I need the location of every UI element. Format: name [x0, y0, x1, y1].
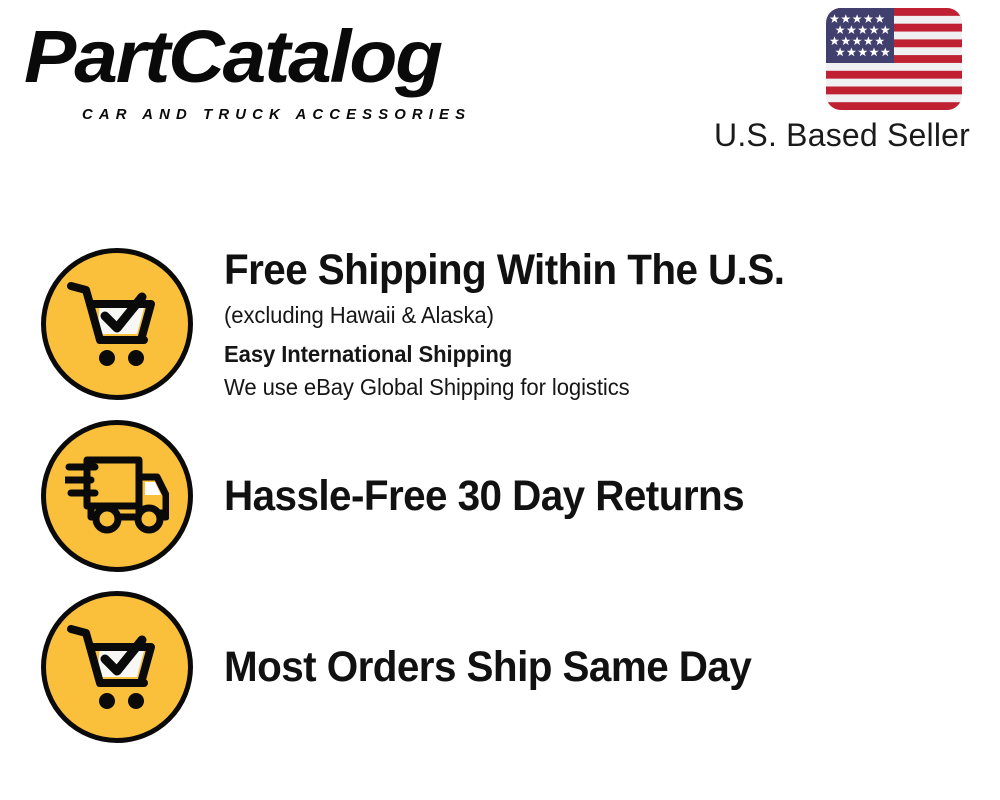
feature-list: Free Shipping Within The U.S. (excluding… — [0, 175, 1000, 800]
shopping-cart-check-icon — [41, 591, 193, 743]
feature-subnote: (excluding Hawaii & Alaska) — [224, 299, 950, 331]
us-based-seller-label: U.S. Based Seller — [714, 116, 970, 154]
feature-title: Most Orders Ship Same Day — [224, 642, 935, 692]
feature-row-free-shipping: Free Shipping Within The U.S. (excluding… — [0, 244, 1000, 404]
feature-row-same-day: Most Orders Ship Same Day — [0, 587, 1000, 747]
us-flag-icon — [826, 8, 962, 110]
brand-logo: PartCatalog CAR AND TRUCK ACCESSORIES — [24, 18, 494, 118]
brand-tagline: CAR AND TRUCK ACCESSORIES — [82, 106, 471, 123]
feature-text-returns: Hassle-Free 30 Day Returns — [224, 471, 1000, 521]
feature-sub-plain: We use eBay Global Shipping for logistic… — [224, 371, 950, 403]
feature-title: Hassle-Free 30 Day Returns — [224, 471, 935, 521]
delivery-truck-icon — [41, 420, 193, 572]
feature-row-returns: Hassle-Free 30 Day Returns — [0, 416, 1000, 576]
feature-text-same-day: Most Orders Ship Same Day — [224, 642, 1000, 692]
feature-sub-bold: Easy International Shipping — [224, 338, 950, 370]
us-based-seller-badge: U.S. Based Seller — [714, 0, 984, 165]
feature-title: Free Shipping Within The U.S. — [224, 245, 935, 295]
banner-header: PartCatalog CAR AND TRUCK ACCESSORIES — [0, 0, 1000, 175]
shopping-cart-check-icon — [41, 248, 193, 400]
brand-wordmark: PartCatalog — [24, 18, 441, 96]
feature-text-free-shipping: Free Shipping Within The U.S. (excluding… — [224, 245, 1000, 403]
